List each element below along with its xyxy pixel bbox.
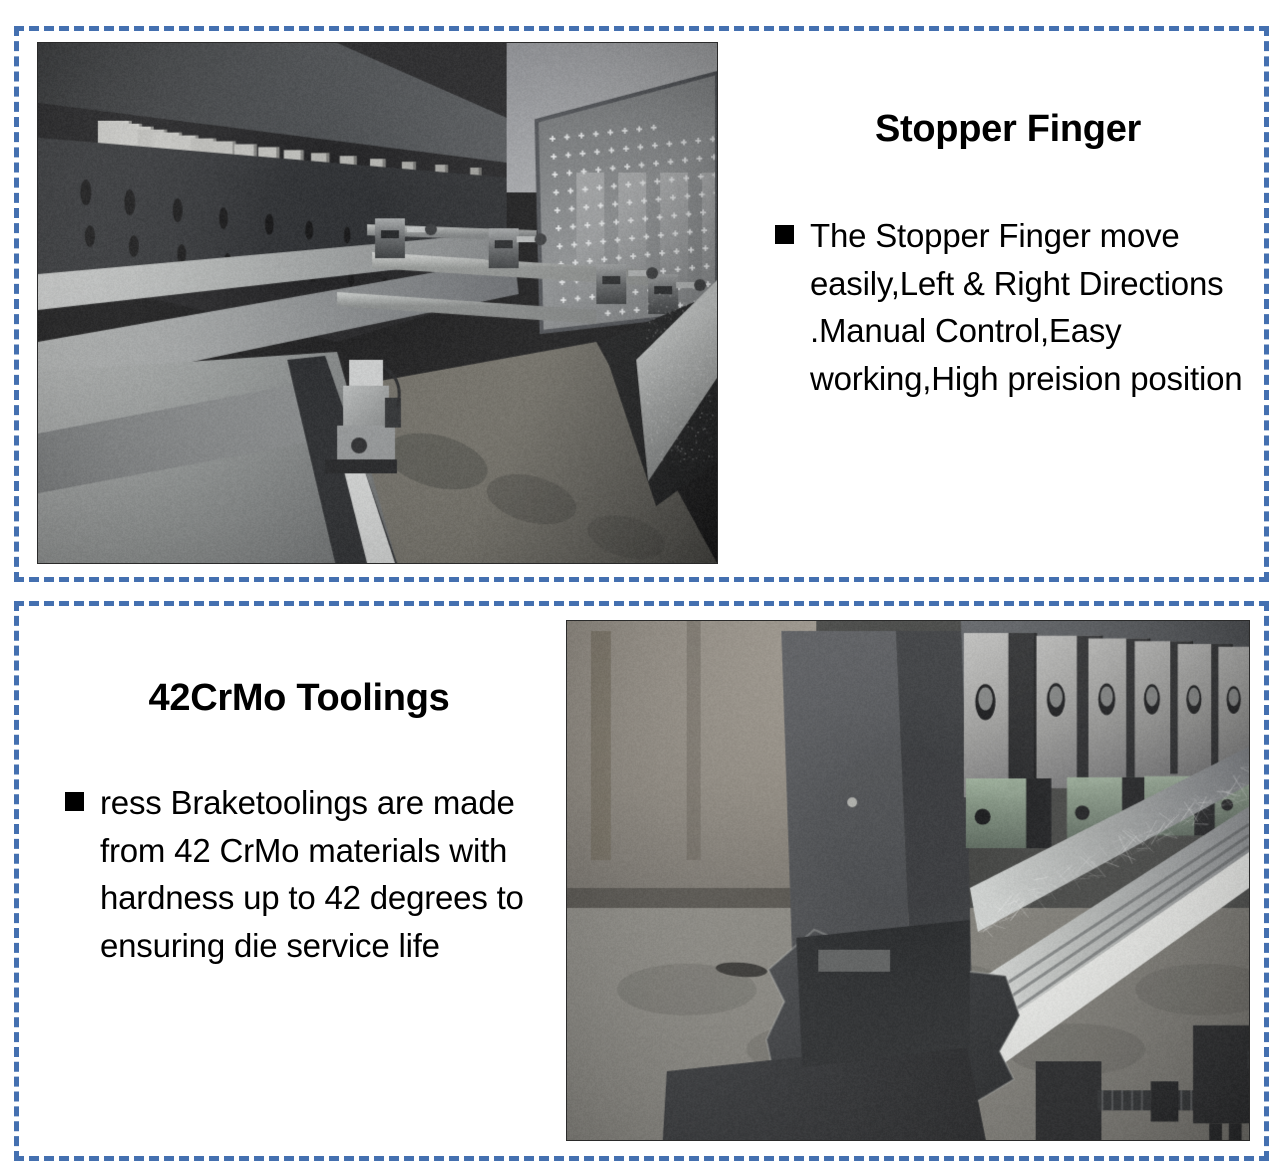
- photo-crmo-tooling: [566, 620, 1250, 1141]
- photo-stopper-finger: [37, 42, 718, 564]
- bullet-item-crmo-toolings: ress Braketoolings are made from 42 CrMo…: [41, 779, 551, 969]
- text-block-crmo-toolings: 42CrMo Toolings ress Braketoolings are m…: [41, 678, 551, 969]
- panel-heading-stopper-finger: Stopper Finger: [741, 109, 1261, 150]
- panel-stopper-finger: Stopper Finger The Stopper Finger move e…: [14, 26, 1269, 582]
- square-bullet-icon: [775, 225, 794, 244]
- slide-page: Stopper Finger The Stopper Finger move e…: [0, 0, 1280, 1173]
- bullet-text-stopper-finger: The Stopper Finger move easily,Left & Ri…: [810, 212, 1261, 402]
- panel-crmo-toolings: 42CrMo Toolings ress Braketoolings are m…: [14, 601, 1269, 1161]
- bullet-item-stopper-finger: The Stopper Finger move easily,Left & Ri…: [741, 212, 1261, 402]
- panel-heading-crmo-toolings: 42CrMo Toolings: [41, 678, 551, 719]
- text-block-stopper-finger: Stopper Finger The Stopper Finger move e…: [741, 109, 1261, 402]
- square-bullet-icon: [65, 792, 84, 811]
- bullet-text-crmo-toolings: ress Braketoolings are made from 42 CrMo…: [100, 779, 551, 969]
